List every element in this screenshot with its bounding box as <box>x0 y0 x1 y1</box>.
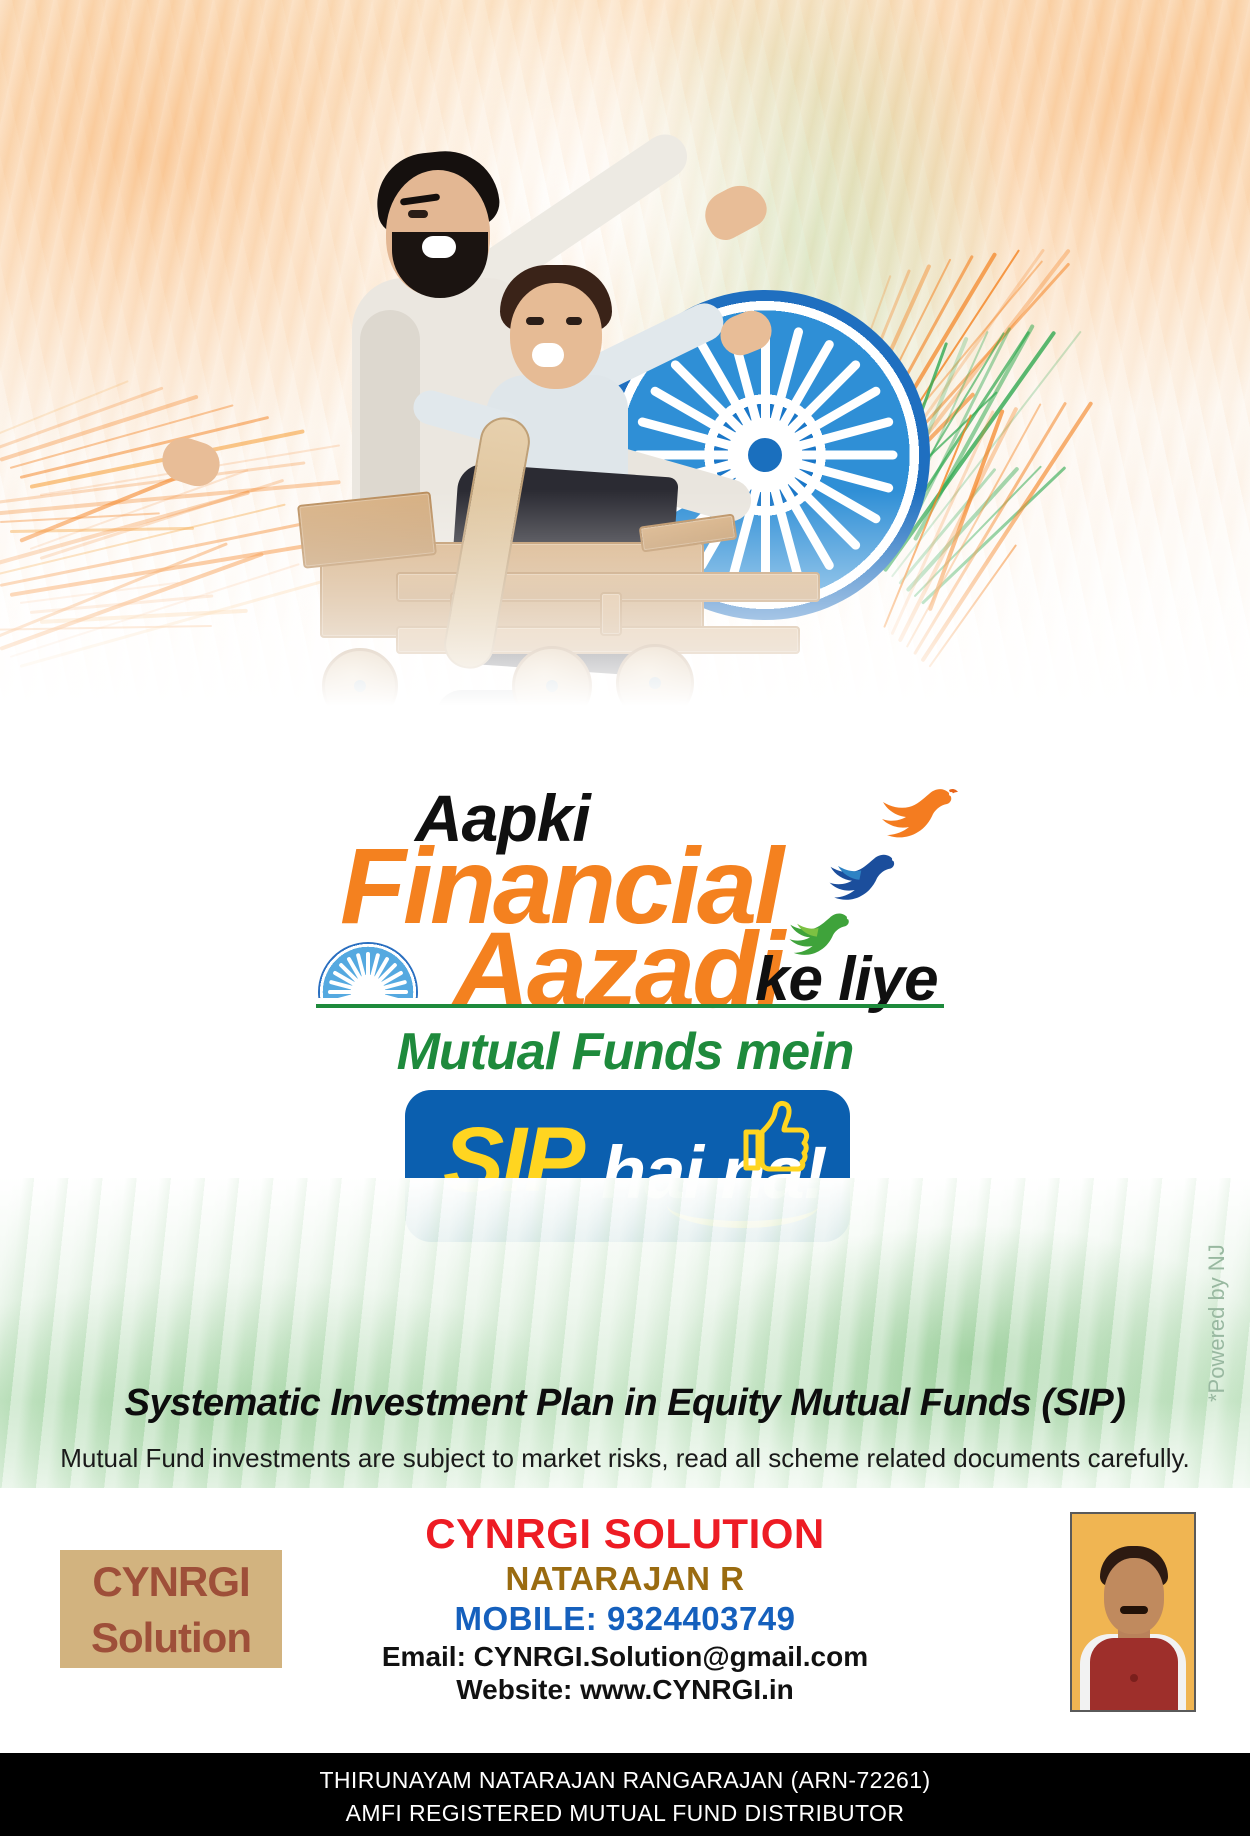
disclaimer-text: Mutual Fund investments are subject to m… <box>0 1443 1250 1474</box>
subheadline-mutual-funds: Mutual Funds mein <box>0 1022 1250 1082</box>
portrait-mustache <box>1120 1606 1148 1614</box>
contact-details: CYNRGI SOLUTION NATARAJAN R MOBILE: 9324… <box>0 1510 1250 1706</box>
portrait-face <box>1104 1558 1164 1634</box>
footer-line-2: AMFI REGISTERED MUTUAL FUND DISTRIBUTOR <box>0 1794 1250 1827</box>
man-mouth <box>422 236 456 258</box>
green-wash-band <box>0 1178 1250 1488</box>
man-eye <box>408 210 428 218</box>
headline-block: Aapki Financial Aazadi ke liye <box>0 760 1250 1220</box>
hero-banner <box>0 0 1250 790</box>
birds-group <box>790 778 970 988</box>
portrait-button <box>1130 1674 1138 1682</box>
thumbs-up-icon <box>732 1098 812 1176</box>
orange-bird-icon <box>876 778 964 848</box>
chakra-hub <box>748 438 782 472</box>
blue-bird-icon <box>824 844 906 910</box>
powered-by-nj-label: *Powered by NJ <box>1204 1202 1244 1402</box>
ashoka-chakra-small-icon <box>318 942 418 998</box>
website-url[interactable]: Website: www.CYNRGI.in <box>0 1674 1250 1706</box>
email-address[interactable]: Email: CYNRGI.Solution@gmail.com <box>0 1641 1250 1673</box>
green-bird-icon <box>784 904 860 964</box>
poster-canvas: Aapki Financial Aazadi ke liye <box>0 0 1250 1836</box>
child-mouth <box>532 343 564 367</box>
contact-section: CYNRGI Solution CYNRGI SOLUTION NATARAJA… <box>0 1488 1250 1753</box>
footer-line-1: THIRUNAYAM NATARAJAN RANGARAJAN (ARN-722… <box>0 1753 1250 1794</box>
green-divider <box>316 1004 944 1008</box>
mobile-number[interactable]: MOBILE: 9324403749 <box>0 1600 1250 1638</box>
company-name: CYNRGI SOLUTION <box>0 1510 1250 1558</box>
footer-bar: THIRUNAYAM NATARAJAN RANGARAJAN (ARN-722… <box>0 1753 1250 1836</box>
tagline-text: Systematic Investment Plan in Equity Mut… <box>0 1382 1250 1425</box>
hero-fade <box>0 490 1250 790</box>
green-texture <box>0 1178 1250 1488</box>
advisor-portrait-photo <box>1070 1512 1196 1712</box>
advisor-name: NATARAJAN R <box>0 1560 1250 1598</box>
child-eye-left <box>526 317 544 325</box>
child-eye-right <box>566 317 582 325</box>
child-head <box>510 283 602 389</box>
